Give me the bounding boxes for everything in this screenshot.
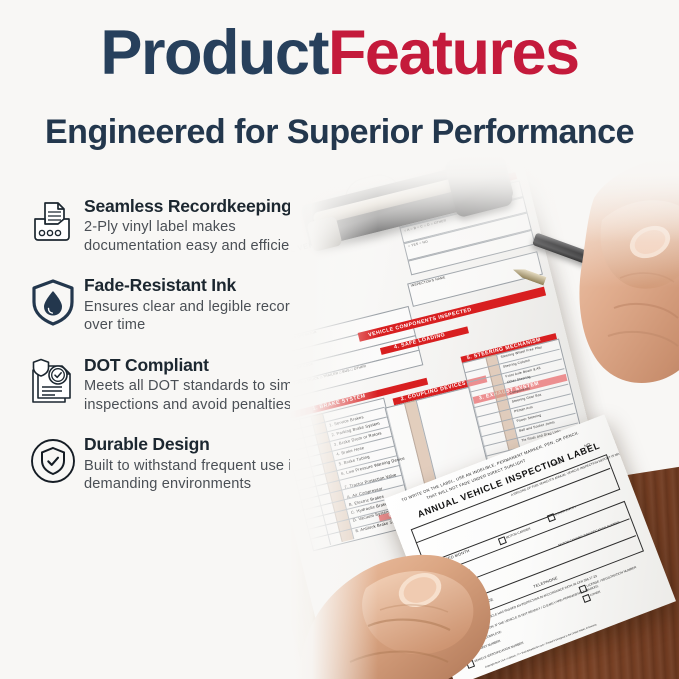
feature-description-line2: over time: [84, 316, 306, 335]
feature-description-line2: demanding environments: [84, 475, 300, 494]
feature-description-line1: Built to withstand frequent use in: [84, 457, 300, 476]
label-checkbox-other-text: OTHER: [590, 590, 602, 598]
feature-description-line1: 2-Ply vinyl label makes: [84, 218, 302, 237]
feature-text-fade-resistant-ink: Fade-Resistant Ink Ensures clear and leg…: [84, 271, 306, 334]
document-box-icon: [22, 192, 84, 254]
feature-heading: Fade-Resistant Ink: [84, 275, 306, 295]
feature-description-line1: Ensures clear and legible records: [84, 298, 306, 317]
feature-text-dot-compliant: DOT Compliant Meets all DOT standards to…: [84, 351, 319, 414]
feature-text-durable-design: Durable Design Built to withstand freque…: [84, 430, 300, 493]
product-photo: BUCK U. ANNUAL VEHICLE INSPECTION REPORT…: [290, 150, 679, 679]
document-check-shield-icon: [22, 351, 84, 413]
page-root: ProductFeatures Engineered for Superior …: [0, 0, 679, 679]
feature-heading: DOT Compliant: [84, 355, 319, 375]
hand-holding-pen: [502, 158, 679, 408]
title-part-product: Product: [100, 18, 328, 88]
feature-description-line2: documentation easy and efficient: [84, 237, 302, 256]
page-title: ProductFeatures: [0, 22, 679, 85]
hand-holding-clipboard: [290, 450, 570, 679]
feature-description-line2: inspections and avoid penalties: [84, 396, 319, 415]
feature-text-recordkeeping: Seamless Recordkeeping 2-Ply vinyl label…: [84, 192, 302, 255]
photo-scene: BUCK U. ANNUAL VEHICLE INSPECTION REPORT…: [290, 150, 679, 679]
feature-description-line1: Meets all DOT standards to simplify: [84, 377, 319, 396]
circle-shield-check-icon: [22, 430, 84, 492]
title-part-features: Features: [328, 18, 579, 88]
feature-heading: Seamless Recordkeeping: [84, 196, 302, 216]
page-subtitle: Engineered for Superior Performance: [0, 113, 679, 152]
feature-heading: Durable Design: [84, 434, 300, 454]
shield-droplet-icon: [22, 271, 84, 333]
